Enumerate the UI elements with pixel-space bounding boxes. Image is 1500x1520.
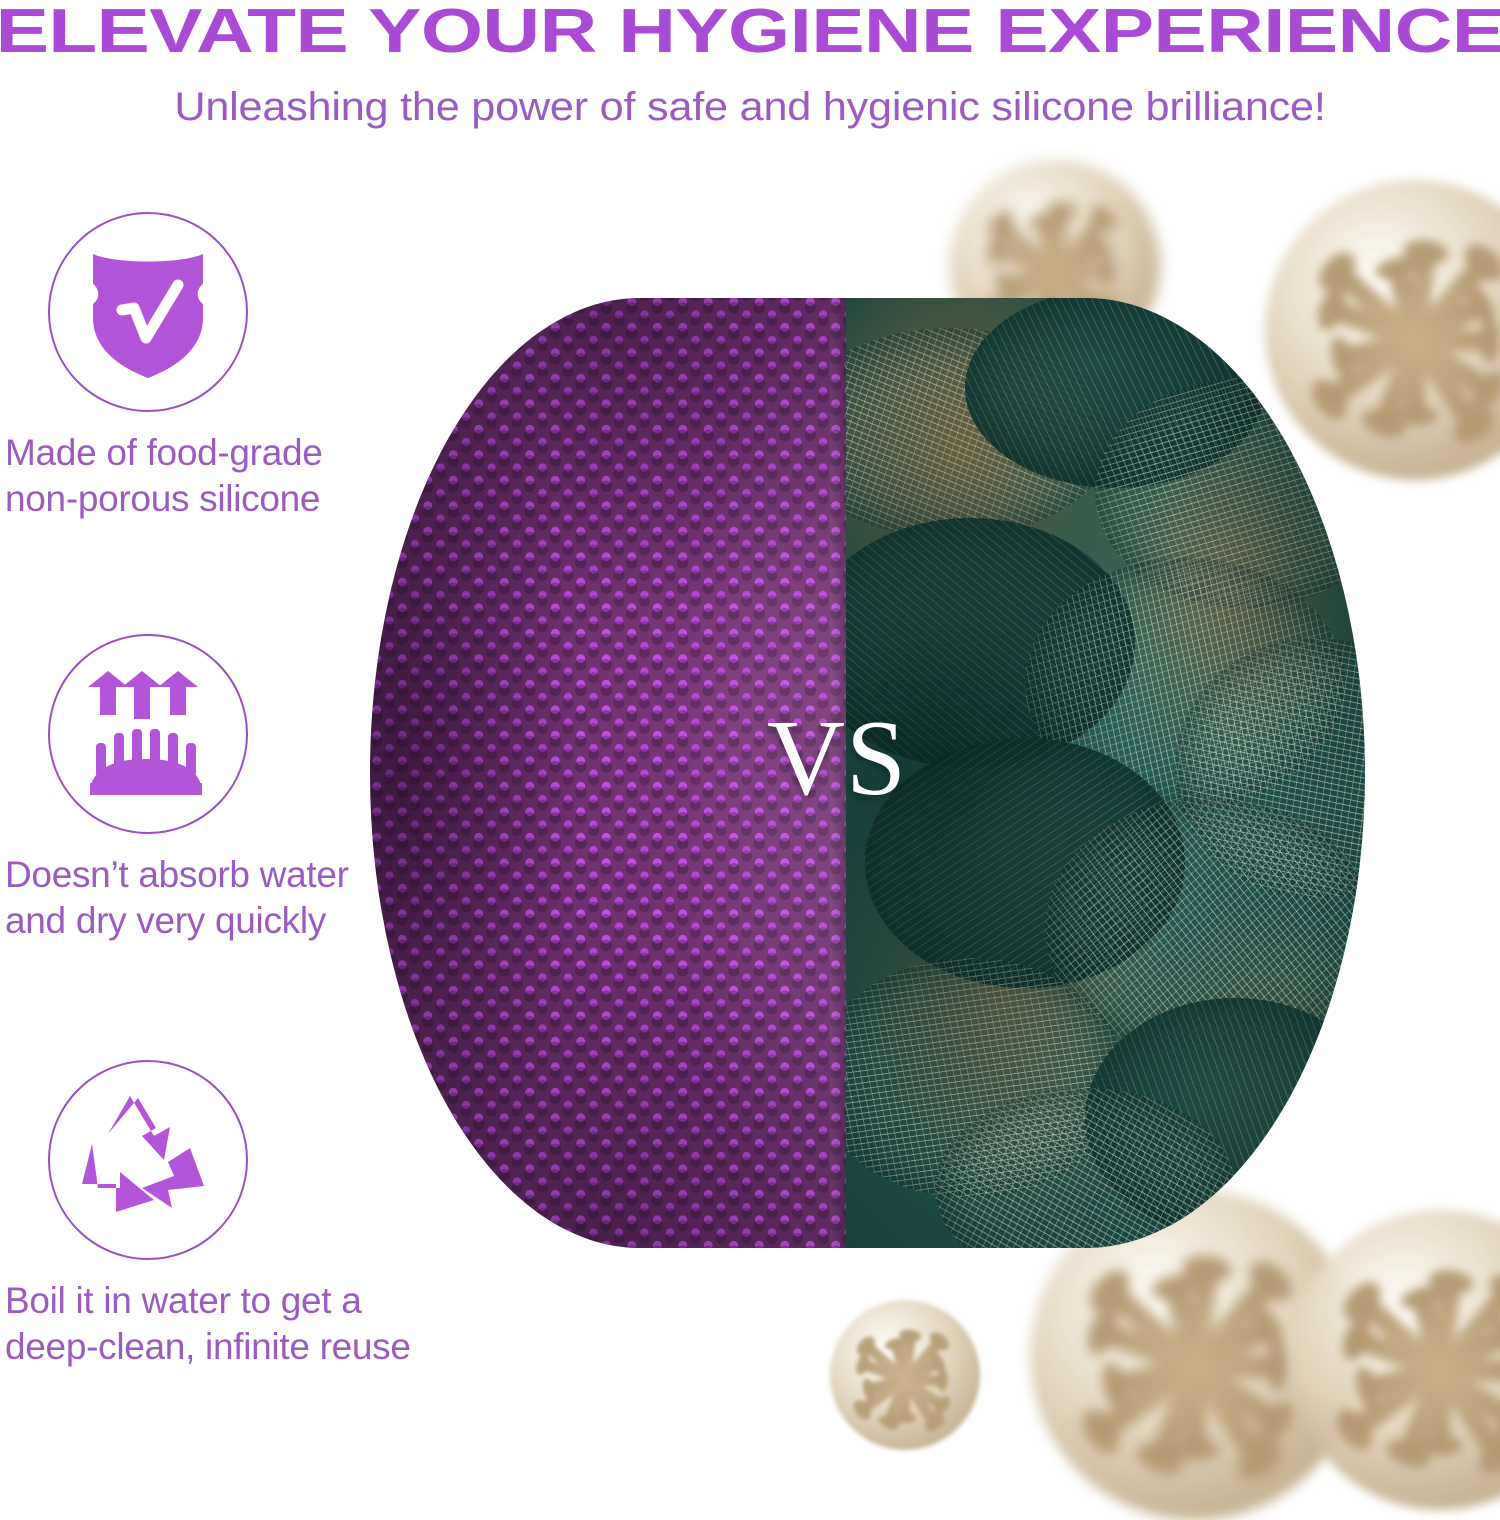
page-headline: ELEVATE YOUR HYGIENE EXPERIENCE (0, 0, 1500, 66)
feature-icon-ring (48, 1060, 248, 1260)
shield-check-icon (82, 242, 214, 382)
recycle-icon (78, 1092, 218, 1228)
feature-icon-ring (48, 634, 248, 834)
feature-icon-ring (48, 212, 248, 412)
vs-label: VS (747, 705, 927, 813)
product-comparison-graphic: VS (330, 150, 1500, 1395)
evaporation-bristles-icon (78, 671, 218, 797)
germ-particle (830, 1300, 980, 1450)
page-subheadline: Unleashing the power of safe and hygieni… (0, 82, 1500, 132)
